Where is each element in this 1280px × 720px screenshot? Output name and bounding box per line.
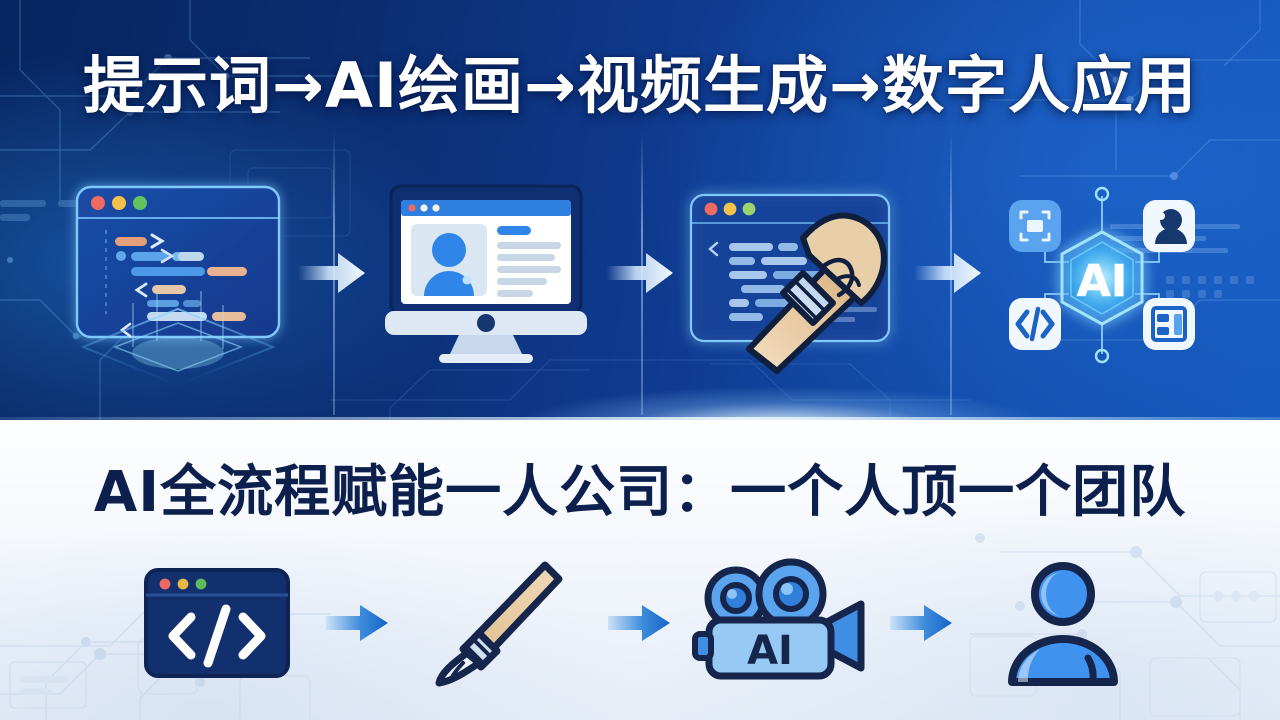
bottom-step-person[interactable] (968, 548, 1158, 698)
arrow-right-icon (890, 603, 954, 643)
paintbrush-icon (433, 559, 565, 687)
top-arrow-3 (910, 160, 986, 385)
bottom-step-paint[interactable] (404, 548, 594, 698)
bottom-arrow-1 (312, 548, 404, 698)
top-step-ai-drawing[interactable] (370, 160, 602, 385)
bottom-arrow-3 (876, 548, 968, 698)
camera-ai-label: AI (747, 628, 793, 674)
layout-app-icon (1143, 298, 1195, 350)
bottom-headline: AI全流程赋能一人公司：一个人顶一个团队 (0, 462, 1280, 524)
bottom-pipeline-row: AI (0, 548, 1280, 698)
ai-hub-network-icon: AI (991, 178, 1213, 368)
top-step-video[interactable] (678, 160, 910, 385)
bottom-arrow-2 (594, 548, 686, 698)
poster-canvas: 提示词→AI绘画→视频生成→数字人应用 (0, 0, 1280, 720)
top-pipeline-row: AI (0, 160, 1280, 385)
image-app-icon (1009, 200, 1061, 252)
movie-camera-icon: AI (691, 564, 871, 682)
arrow-right-icon (606, 250, 674, 296)
arrow-right-icon (326, 603, 390, 643)
code-editor-window-icon (74, 184, 282, 362)
bottom-step-video-camera[interactable]: AI (686, 548, 876, 698)
avatar-app-icon (1143, 200, 1195, 252)
person-avatar-icon (998, 560, 1128, 686)
arrow-right-icon (298, 250, 366, 296)
desktop-monitor-profile-icon (379, 178, 593, 368)
code-window-icon (143, 567, 291, 679)
top-headline: 提示词→AI绘画→视频生成→数字人应用 (0, 52, 1280, 120)
top-step-digital-human[interactable]: AI (986, 160, 1218, 385)
bottom-step-code[interactable] (122, 548, 312, 698)
top-arrow-1 (294, 160, 370, 385)
ai-hub-label: AI (1077, 256, 1127, 307)
code-app-icon (1009, 298, 1061, 350)
paintbrush-over-code-window-icon (685, 177, 903, 369)
top-arrow-2 (602, 160, 678, 385)
top-step-prompt[interactable] (62, 160, 294, 385)
arrow-right-icon (608, 603, 672, 643)
arrow-right-icon (914, 250, 982, 296)
